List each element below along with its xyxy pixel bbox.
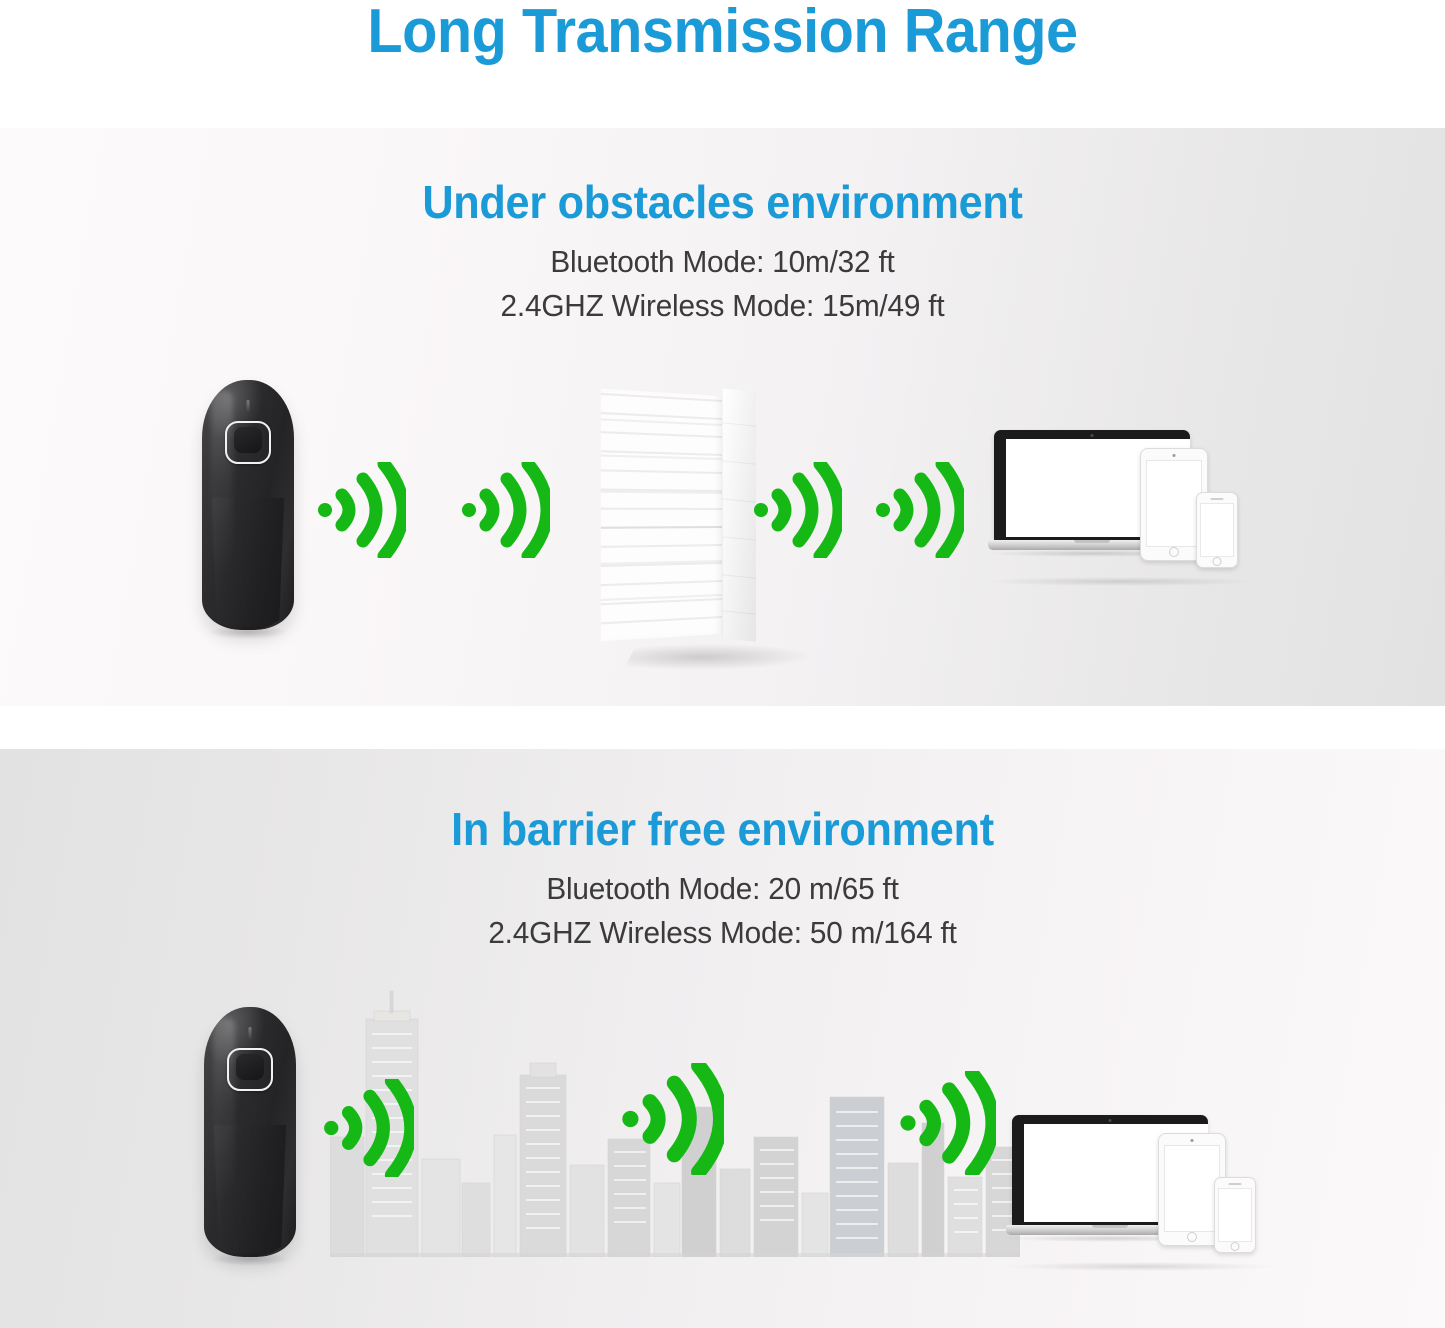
wifi-signal-icon: [752, 462, 842, 558]
section-barrier-free: In barrier free environment Bluetooth Mo…: [0, 749, 1445, 1328]
wifi-signal-icon: [322, 1079, 414, 1177]
barcode-scanner-icon: [202, 380, 294, 630]
barcode-scanner-icon: [204, 1007, 296, 1257]
brick-wall-icon: [604, 384, 769, 650]
wifi-signal-icon: [316, 462, 406, 558]
smartphone-icon: [1196, 492, 1238, 568]
spec-bluetooth-obstacles: Bluetooth Mode: 10m/32 ft: [29, 240, 1416, 284]
smartphone-icon: [1214, 1177, 1256, 1253]
target-devices-group: [988, 430, 1258, 580]
section-heading-barrier-free: In barrier free environment: [43, 803, 1401, 855]
wifi-signal-icon: [460, 462, 550, 558]
section-heading-obstacles: Under obstacles environment: [43, 176, 1401, 228]
wifi-signal-icon: [620, 1063, 724, 1175]
target-devices-group: [1006, 1115, 1276, 1265]
spec-wireless-barrier-free: 2.4GHZ Wireless Mode: 50 m/164 ft: [29, 911, 1416, 955]
wifi-signal-icon: [874, 462, 964, 558]
infographic-page: Long Transmission Range Under obstacles …: [0, 0, 1445, 1328]
wifi-signal-icon: [898, 1071, 996, 1175]
section-under-obstacles: Under obstacles environment Bluetooth Mo…: [0, 128, 1445, 706]
spec-bluetooth-barrier-free: Bluetooth Mode: 20 m/65 ft: [29, 867, 1416, 911]
spec-wireless-obstacles: 2.4GHZ Wireless Mode: 15m/49 ft: [29, 284, 1416, 328]
page-title: Long Transmission Range: [51, 0, 1395, 68]
